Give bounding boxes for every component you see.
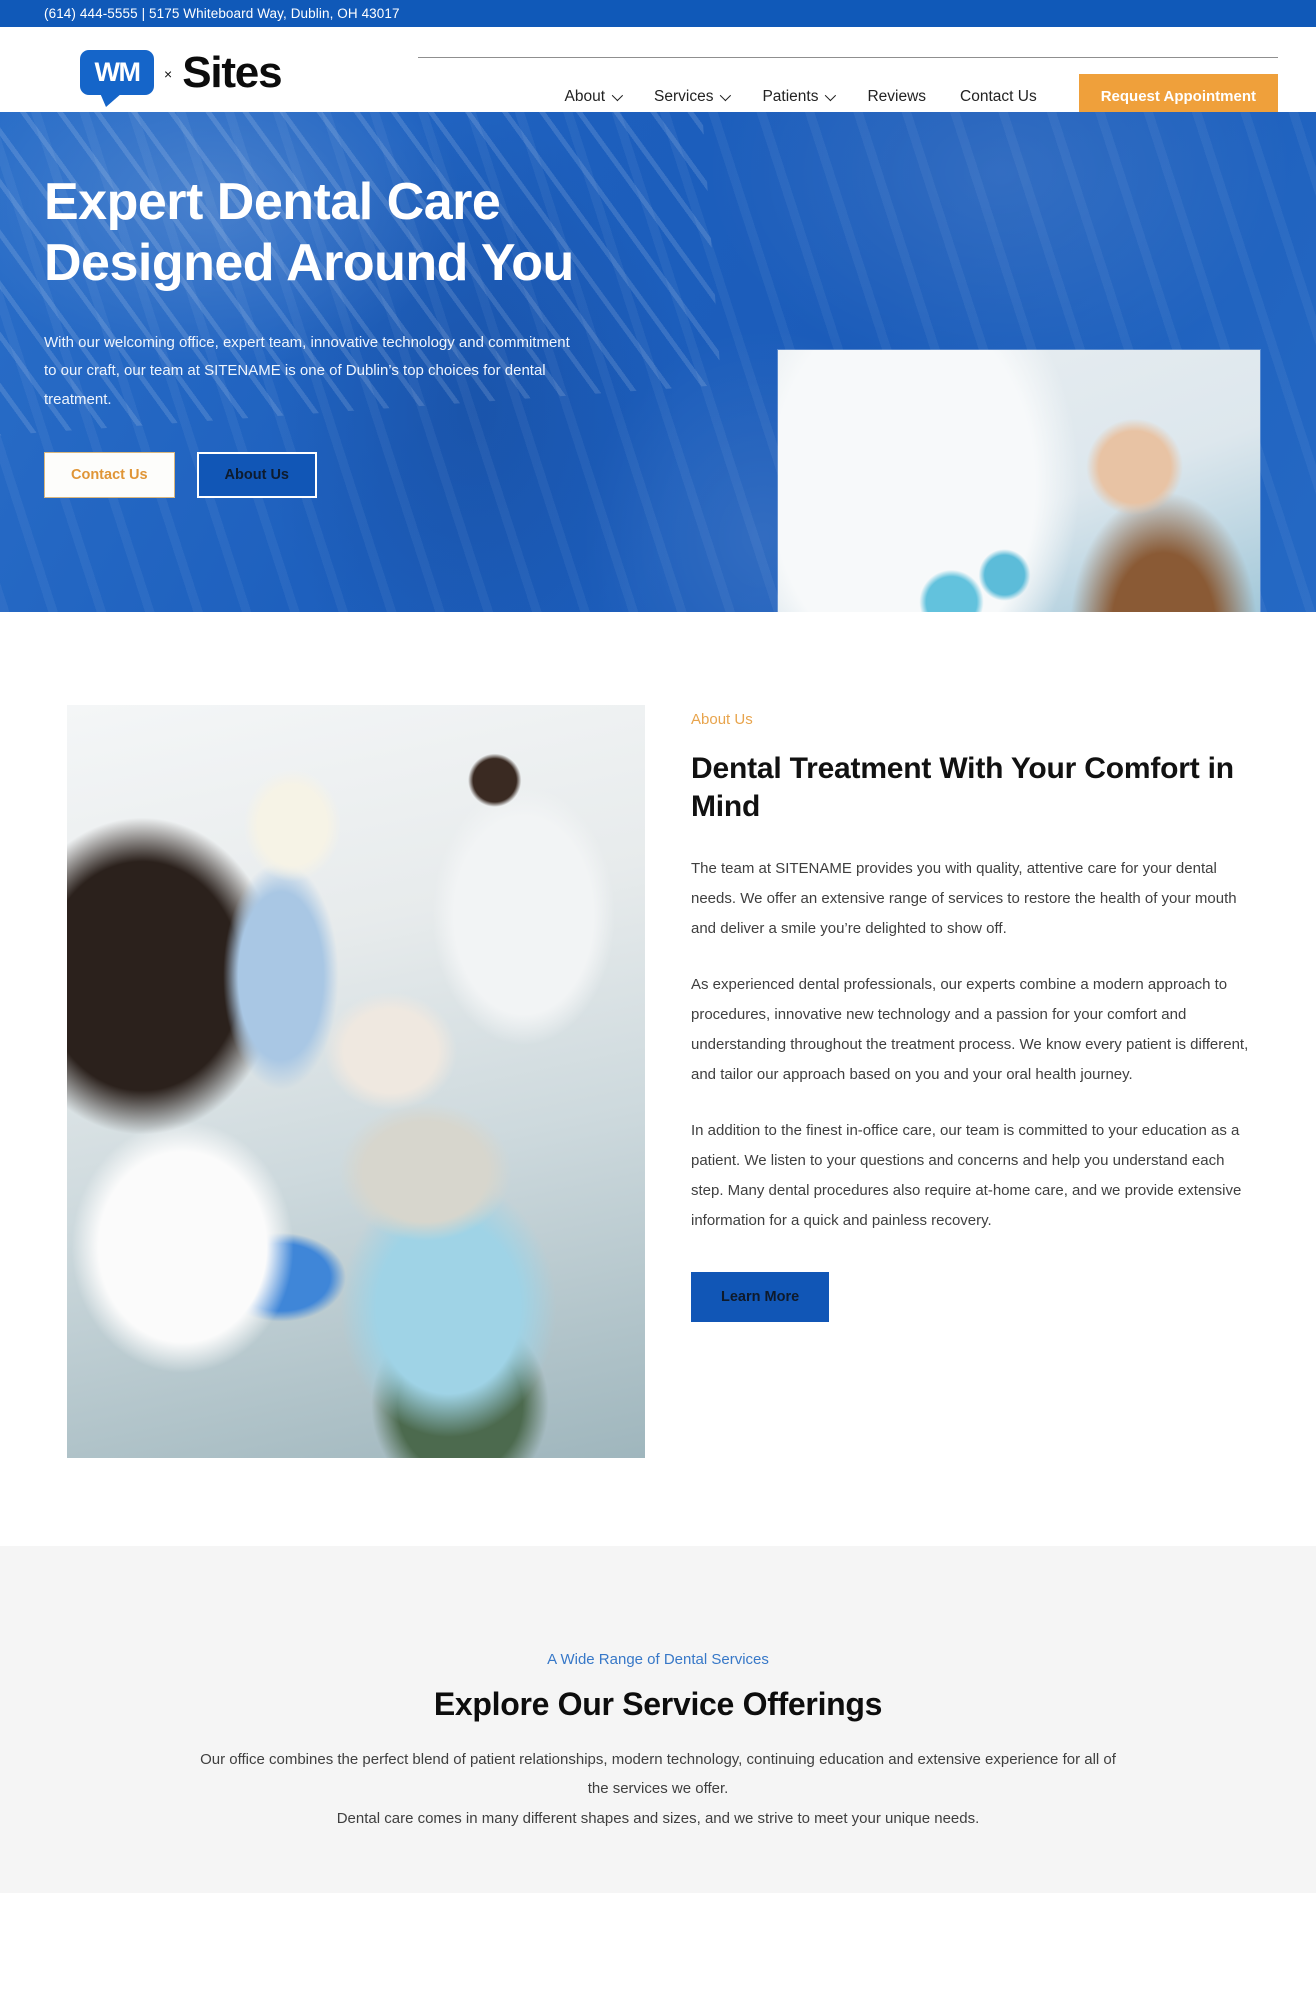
about-paragraph-3: In addition to the finest in-office care… (691, 1116, 1251, 1236)
nav-item-about[interactable]: About (565, 88, 621, 106)
nav-item-contact-us[interactable]: Contact Us (960, 88, 1037, 106)
about-heading: Dental Treatment With Your Comfort in Mi… (691, 750, 1251, 826)
nav-item-services[interactable]: Services (654, 88, 728, 106)
services-paragraph-1: Our office combines the perfect blend of… (188, 1745, 1128, 1804)
nav-label: Contact Us (960, 88, 1037, 106)
topbar-contact-text: (614) 444-5555 | 5175 Whiteboard Way, Du… (44, 6, 400, 21)
about-section: About Us Dental Treatment With Your Comf… (0, 612, 1316, 1546)
nav-item-reviews[interactable]: Reviews (867, 88, 926, 106)
hero-patient-photo (778, 350, 1260, 612)
about-eyebrow: About Us (691, 711, 1251, 728)
logo-badge-text: WM (95, 57, 140, 88)
services-heading: Explore Our Service Offerings (110, 1686, 1206, 1723)
header-divider (418, 57, 1278, 58)
services-paragraph-2: Dental care comes in many different shap… (188, 1804, 1128, 1833)
about-paragraph-1: The team at SITENAME provides you with q… (691, 854, 1251, 944)
site-header: WM × Sites About Services Patients Revie… (0, 27, 1316, 112)
nav-item-patients[interactable]: Patients (762, 88, 833, 106)
services-section: A Wide Range of Dental Services Explore … (0, 1546, 1316, 1893)
hero-text-column: Expert Dental Care Designed Around You W… (44, 164, 644, 498)
nav-label: Reviews (867, 88, 926, 106)
about-paragraph-2: As experienced dental professionals, our… (691, 970, 1251, 1090)
hero-about-us-button[interactable]: About Us (197, 452, 317, 498)
site-logo[interactable]: WM × Sites (80, 49, 281, 95)
speech-bubble-icon: WM (80, 50, 154, 95)
nav-label: Patients (762, 88, 818, 106)
chevron-down-icon (825, 89, 836, 100)
logo-wordmark: Sites (182, 49, 281, 95)
hero-button-group: Contact Us About Us (44, 452, 644, 498)
header-nav-column: About Services Patients Reviews Contact … (418, 27, 1278, 119)
logo-separator: × (164, 62, 172, 82)
chevron-down-icon (612, 89, 623, 100)
chevron-down-icon (720, 89, 731, 100)
nav-label: About (565, 88, 606, 106)
top-contact-bar: (614) 444-5555 | 5175 Whiteboard Way, Du… (0, 0, 1316, 27)
nav-label: Services (654, 88, 713, 106)
about-text-column: About Us Dental Treatment With Your Comf… (691, 705, 1251, 1458)
hero-heading: Expert Dental Care Designed Around You (44, 172, 644, 295)
hero-section: Expert Dental Care Designed Around You W… (0, 112, 1316, 612)
hero-subtext: With our welcoming office, expert team, … (44, 329, 574, 415)
about-learn-more-button[interactable]: Learn More (691, 1272, 829, 1322)
services-eyebrow: A Wide Range of Dental Services (110, 1651, 1206, 1668)
about-clinic-photo (67, 705, 645, 1458)
hero-contact-us-button[interactable]: Contact Us (44, 452, 175, 498)
